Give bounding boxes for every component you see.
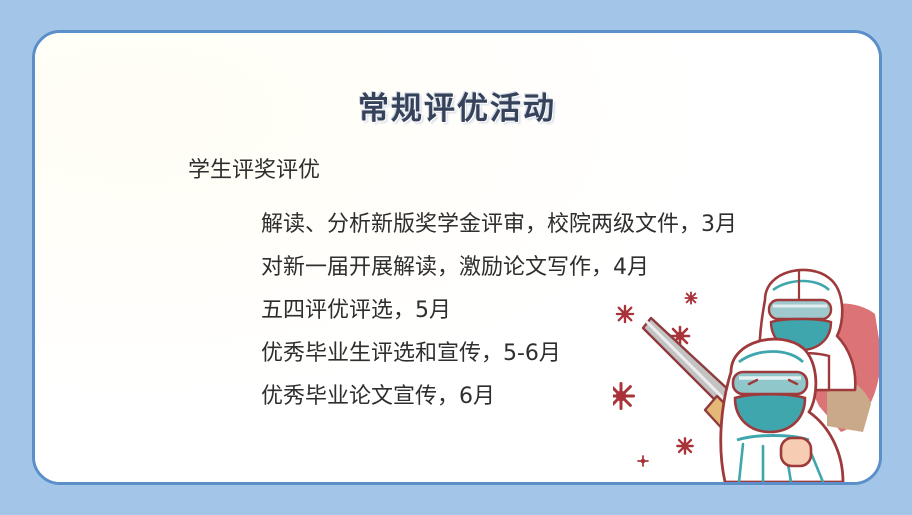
list-item: 解读、分析新版奖学金评审，校院两级文件，3月 xyxy=(261,203,737,246)
activity-list: 解读、分析新版奖学金评审，校院两级文件，3月 对新一届开展解读，激励论文写作，4… xyxy=(188,203,737,418)
list-item: 五四评优评选，5月 xyxy=(261,289,737,332)
hazmat-worker-front xyxy=(721,339,843,482)
hazmat-worker-rear xyxy=(759,270,855,390)
background-shape xyxy=(805,304,881,433)
content-block: 学生评奖评优 解读、分析新版奖学金评审，校院两级文件，3月 对新一届开展解读，激… xyxy=(188,159,737,418)
list-item: 优秀毕业生评选和宣传，5-6月 xyxy=(261,332,737,375)
slide-card: 常规评优活动 学生评奖评优 解读、分析新版奖学金评审，校院两级文件，3月 对新一… xyxy=(32,30,882,485)
lead-heading: 学生评奖评优 xyxy=(188,159,737,183)
list-item: 优秀毕业论文宣传，6月 xyxy=(261,375,737,418)
page-title: 常规评优活动 xyxy=(35,83,879,128)
list-item: 对新一届开展解读，激励论文写作，4月 xyxy=(261,246,737,289)
